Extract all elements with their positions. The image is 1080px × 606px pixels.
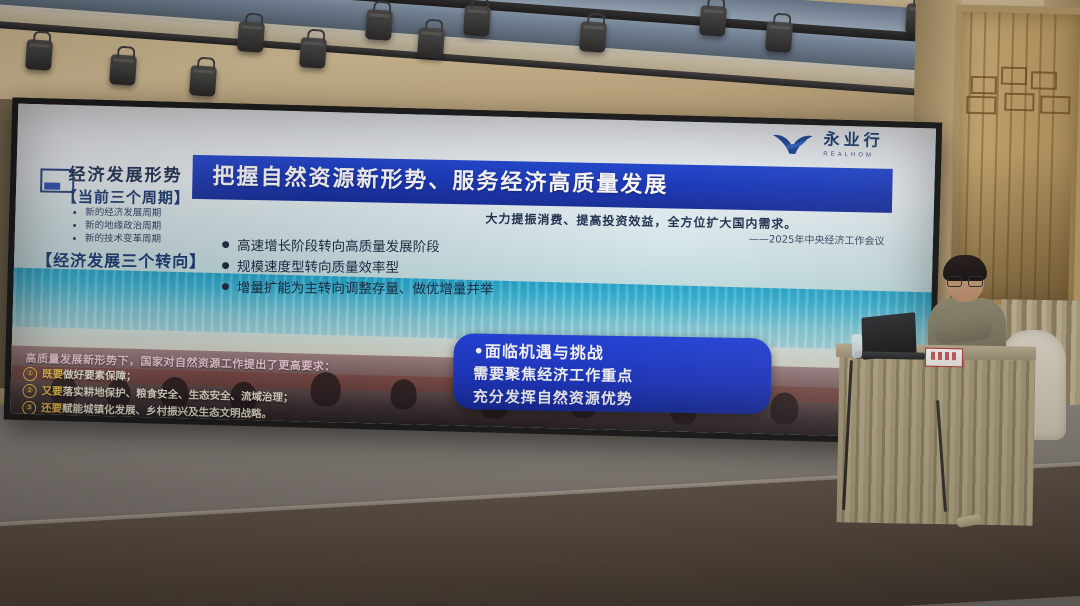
table-skirt [837,357,1036,525]
stage-light-icon [299,37,327,69]
group1-heading: 【当前三个周期】 [62,186,190,208]
name-card [925,348,963,368]
slide-attribution: ——2025年中央经济工作会议 [749,230,885,247]
list-item: 增量扩能为主转向调整存量、做优增量并举 [222,278,494,301]
audience-silhouette [310,371,341,406]
stage-light-icon [365,9,393,41]
list-item-label: 高速增长阶段转向高质量发展阶段 [237,238,440,255]
stage-light-icon [417,27,445,59]
led-screen-frame: 永业行 REALHOM 经济发展形势 【当前三个周期】 新的经济发展周期 新的地… [4,97,942,444]
item-text: 赋能城镇化发展、乡村振兴及生态文明战略。 [62,403,272,421]
stage-light-icon [765,21,793,53]
group2-list: 高速增长阶段转向高质量发展阶段 规模速度型转向质量效率型 增量扩能为主转向调整存… [222,236,494,301]
item-highlight: 还要 [41,402,62,415]
list-item: 规模速度型转向质量效率型 [222,257,494,280]
stage-light-icon [109,54,137,86]
group2-heading: 【经济发展三个转向】 [36,247,206,272]
audience-silhouette [770,392,799,425]
stage-light-icon [463,5,491,37]
list-item: 新的技术变革周期 [85,232,161,246]
item-highlight: 又要 [41,385,62,398]
group1-list: 新的经济发展周期 新的地缘政治周期 新的技术变革周期 [75,206,161,246]
list-item: 高速增长阶段转向高质量发展阶段 [222,236,494,259]
item-number: ① [23,367,37,381]
item-text: 做好要素保障； [63,369,137,383]
logo-chinese-name: 永业行 [823,129,884,150]
audience-silhouette [390,379,417,410]
yy-logo-mark-icon [770,130,815,157]
stage-light-icon [237,21,265,53]
item-number: ② [22,384,36,398]
callout-box: •面临机遇与挑战 需要聚焦经济工作重点 充分发挥自然资源优势 [453,333,772,414]
conference-hall-photo: 永业行 REALHOM 经济发展形势 【当前三个周期】 新的经济发展周期 新的地… [0,0,1080,606]
company-logo: 永业行 REALHOM [770,130,884,159]
led-screen: 永业行 REALHOM 经济发展形势 【当前三个周期】 新的经济发展周期 新的地… [10,104,936,439]
item-highlight: 既要 [42,368,63,381]
slide-subtitle: 大力提振消费、提高投资效益，全方位扩大国内需求。 [485,210,797,233]
list-item: 新的经济发展周期 [85,206,161,220]
stage-light-icon [579,21,607,53]
logo-text-block: 永业行 REALHOM [823,131,884,159]
stage-light-icon [189,65,217,97]
list-item-label: 规模速度型转向质量效率型 [237,259,399,276]
list-item-label: 增量扩能为主转向调整存量、做优增量并举 [237,280,494,298]
water-bottle [852,334,862,358]
list-item: 新的地缘政治周期 [85,219,161,233]
glasses-icon [947,276,983,285]
stage-light-icon [699,5,727,37]
laptop-base [855,351,925,359]
logo-english-name: REALHOM [823,151,883,159]
slide-section-title: 经济发展形势 [68,160,182,186]
item-number: ③ [22,401,36,415]
video-overlay-list: ①既要做好要素保障； ②又要落实耕地保护、粮食安全、生态安全、流域治理； ③还要… [22,366,294,424]
callout-line-3: 充分发挥自然资源优势 [473,385,771,413]
stage-light-icon [25,39,53,71]
